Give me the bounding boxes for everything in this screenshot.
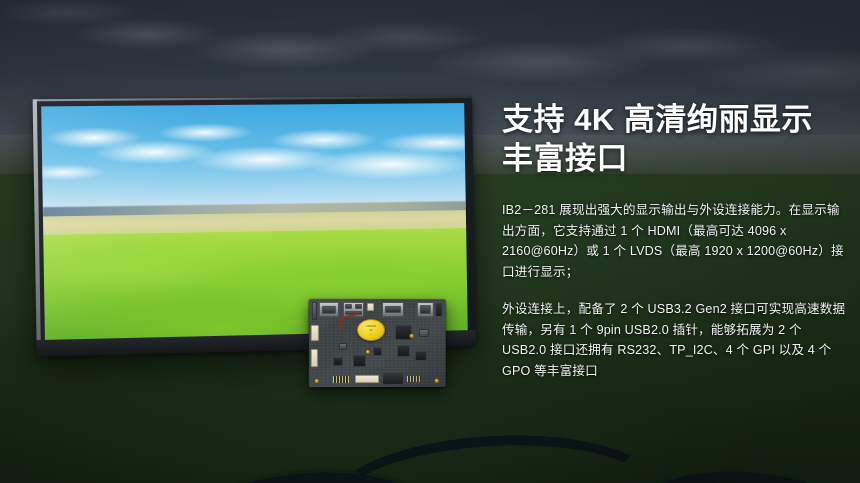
usb-upper-cavity — [345, 304, 352, 309]
battery-label-line1: CR2032 — [366, 324, 376, 327]
panel-connector — [311, 349, 318, 367]
battery-label: CR2032 3V + — [358, 320, 384, 340]
power-jack — [436, 303, 442, 316]
page-title: 支持 4K 高清绚丽显示 丰富接口 — [502, 100, 846, 178]
lvds-connector — [311, 325, 319, 341]
copy-panel: 支持 4K 高清绚丽显示 丰富接口 IB2－281 展现出强大的显示输出与外设连… — [502, 100, 846, 381]
usb2-9pin-header — [407, 376, 421, 382]
lan-chip — [415, 351, 427, 361]
slide-canvas: CR2032 3V + 支持 4K 高清绚丽显示 丰富接口 IB2－281 — [0, 0, 860, 483]
memory-chip — [397, 345, 410, 357]
screen-sky — [41, 103, 466, 214]
regulator-chip — [373, 347, 382, 356]
sata-connector — [383, 373, 403, 384]
coin-cell-battery: CR2032 3V + — [357, 319, 385, 341]
hdmi-port-cavity — [385, 306, 401, 313]
headline-line-2: 丰富接口 — [502, 139, 846, 178]
mounting-screw — [314, 378, 320, 384]
gpio-pin-header — [333, 376, 349, 383]
fan-header — [367, 303, 374, 311]
io-shield-tab — [312, 302, 317, 320]
motherboard: CR2032 3V + — [309, 299, 446, 387]
bios-chip — [333, 357, 343, 366]
inductor — [339, 343, 347, 350]
inductor — [419, 329, 429, 337]
mounting-screw — [365, 349, 371, 355]
mounting-screw — [434, 378, 440, 384]
headline-line-1: 支持 4K 高清绚丽显示 — [502, 100, 846, 139]
controller-chip — [353, 355, 366, 367]
front-panel-header — [355, 375, 379, 383]
battery-label-line3: + — [370, 332, 372, 335]
description-paragraph-2: 外设连接上，配备了 2 个 USB3.2 Gen2 接口可实现高速数据传输，另有… — [502, 299, 846, 381]
ethernet-port-cavity — [322, 306, 336, 314]
description-paragraph-1: IB2－281 展现出强大的显示输出与外设连接能力。在显示输出方面，它支持通过 … — [502, 200, 846, 282]
battery-label-line2: 3V — [369, 328, 372, 331]
mounting-screw — [409, 333, 415, 339]
audio-port-cavity — [420, 305, 431, 314]
usb-upper-cavity — [355, 304, 362, 309]
